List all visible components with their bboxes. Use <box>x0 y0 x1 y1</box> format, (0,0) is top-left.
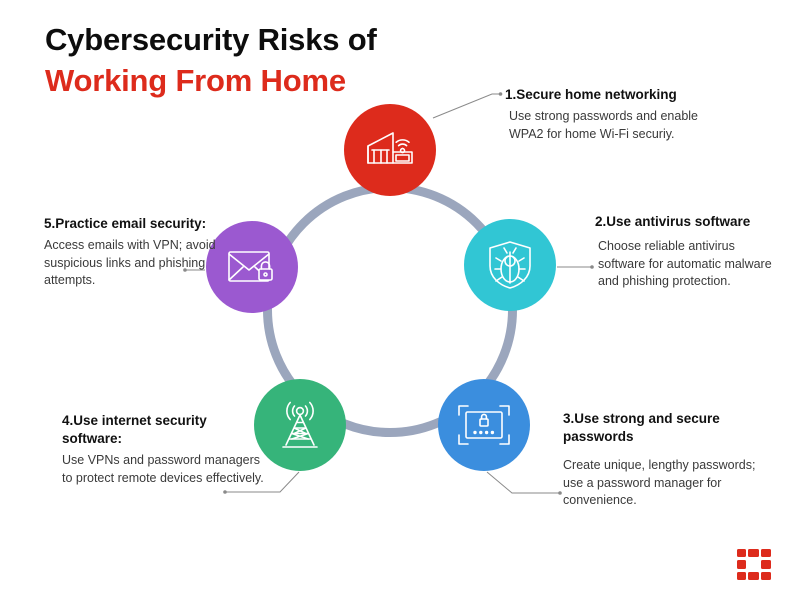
item-body-1: Use strong passwords and enable WPA2 for… <box>509 108 730 144</box>
node-internet-security-software[interactable] <box>254 379 346 471</box>
monitor-lock-icon <box>456 403 512 447</box>
item-heading-1: 1.Secure home networking <box>505 86 730 104</box>
house-wifi-icon <box>363 127 417 173</box>
item-block-5: 5.Practice email security: Access emails… <box>44 215 229 290</box>
item-heading-4: 4.Use internet security software: <box>62 412 267 448</box>
title-line-2: Working From Home <box>45 63 377 100</box>
node-strong-secure-passwords[interactable] <box>438 379 530 471</box>
item-block-4: 4.Use internet security software: Use VP… <box>62 412 267 487</box>
item-body-4: Use VPNs and password managers to protec… <box>62 452 267 488</box>
radio-tower-icon <box>275 399 325 451</box>
node-use-antivirus-software[interactable] <box>464 219 556 311</box>
item-body-2: Choose reliable antivirus software for a… <box>598 238 780 291</box>
item-heading-2: 2.Use antivirus software <box>595 213 780 231</box>
infographic-page: Cybersecurity Risks of Working From Home <box>0 0 790 593</box>
page-title: Cybersecurity Risks of Working From Home <box>45 22 377 99</box>
item-body-3: Create unique, lengthy passwords; use a … <box>563 457 778 510</box>
brand-logo <box>737 549 771 580</box>
item-block-1: 1.Secure home networking Use strong pass… <box>505 86 730 143</box>
item-body-5: Access emails with VPN; avoid suspicious… <box>44 237 229 290</box>
node-secure-home-networking[interactable] <box>344 104 436 196</box>
item-heading-3: 3.Use strong and secure passwords <box>563 410 778 446</box>
item-heading-5: 5.Practice email security: <box>44 215 229 233</box>
envelope-lock-icon <box>225 245 279 289</box>
shield-bug-icon <box>486 239 534 291</box>
item-block-3: 3.Use strong and secure passwords Create… <box>563 410 778 510</box>
item-block-2: 2.Use antivirus software Choose reliable… <box>595 213 780 291</box>
title-line-1: Cybersecurity Risks of <box>45 22 377 59</box>
